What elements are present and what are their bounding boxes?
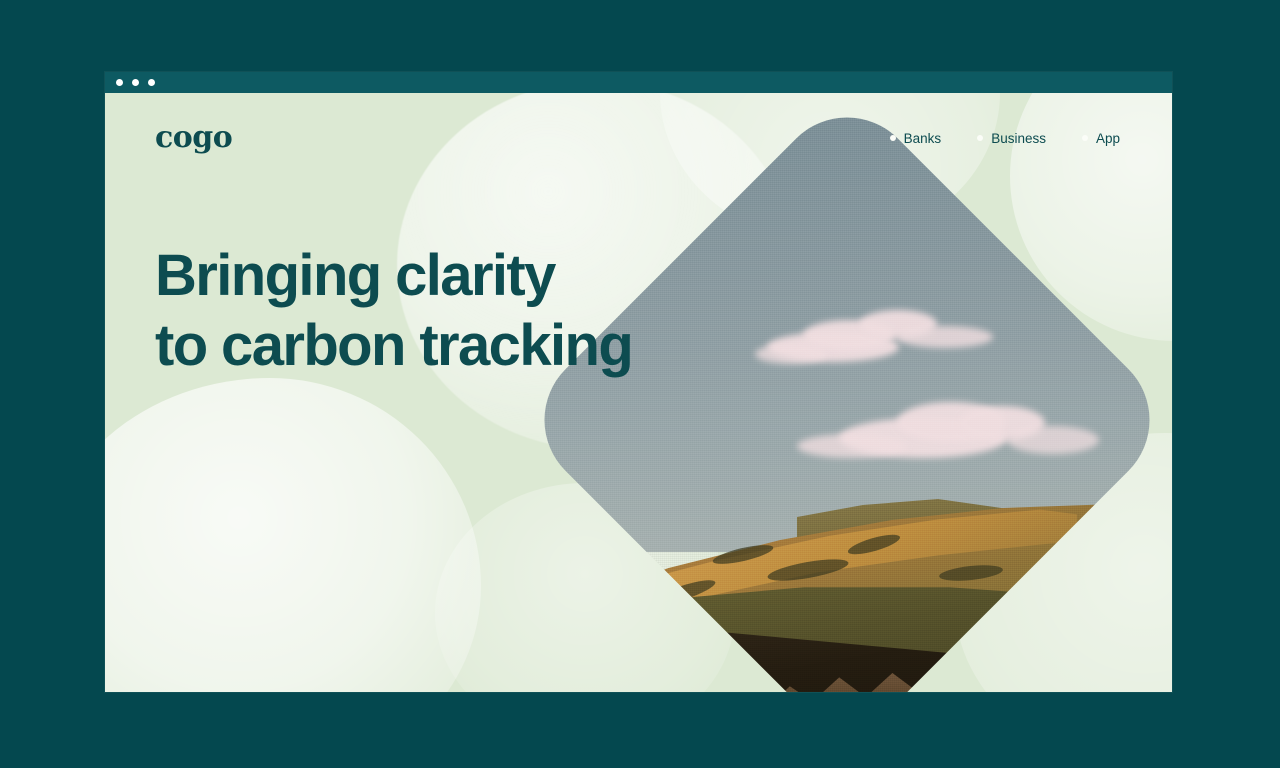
page-viewport: cogo Banks Business App	[105, 93, 1172, 692]
photo-cloud	[755, 344, 827, 364]
site-header: cogo Banks Business App	[105, 93, 1172, 183]
nav-item-label: Business	[991, 131, 1046, 146]
nav-item-business[interactable]: Business	[977, 131, 1046, 146]
main-nav: Banks Business App	[890, 131, 1120, 146]
minimize-dot-icon[interactable]	[132, 79, 139, 86]
close-dot-icon[interactable]	[116, 79, 123, 86]
nav-item-app[interactable]: App	[1082, 131, 1120, 146]
logo[interactable]: cogo	[155, 123, 232, 153]
nav-item-label: App	[1096, 131, 1120, 146]
decorative-blob-bottom-left	[105, 378, 481, 692]
photo-cloud	[1007, 426, 1099, 454]
nav-item-banks[interactable]: Banks	[890, 131, 942, 146]
headline-line-1: Bringing clarity	[155, 241, 632, 311]
dot-icon	[977, 135, 983, 141]
browser-window: cogo Banks Business App	[105, 72, 1172, 692]
photo-cloud	[797, 434, 907, 458]
hero-image-content	[515, 100, 1172, 692]
dot-icon	[1082, 135, 1088, 141]
nav-item-label: Banks	[904, 131, 942, 146]
maximize-dot-icon[interactable]	[148, 79, 155, 86]
browser-chrome-bar	[105, 72, 1172, 93]
dot-icon	[890, 135, 896, 141]
photo-shadow-patch	[1023, 584, 1072, 599]
headline-line-2: to carbon tracking	[155, 311, 632, 381]
hero-copy: Bringing clarity to carbon tracking	[155, 241, 632, 380]
photo-cloud	[897, 326, 993, 348]
page-title: Bringing clarity to carbon tracking	[155, 241, 632, 380]
screen: cogo Banks Business App	[0, 0, 1280, 768]
